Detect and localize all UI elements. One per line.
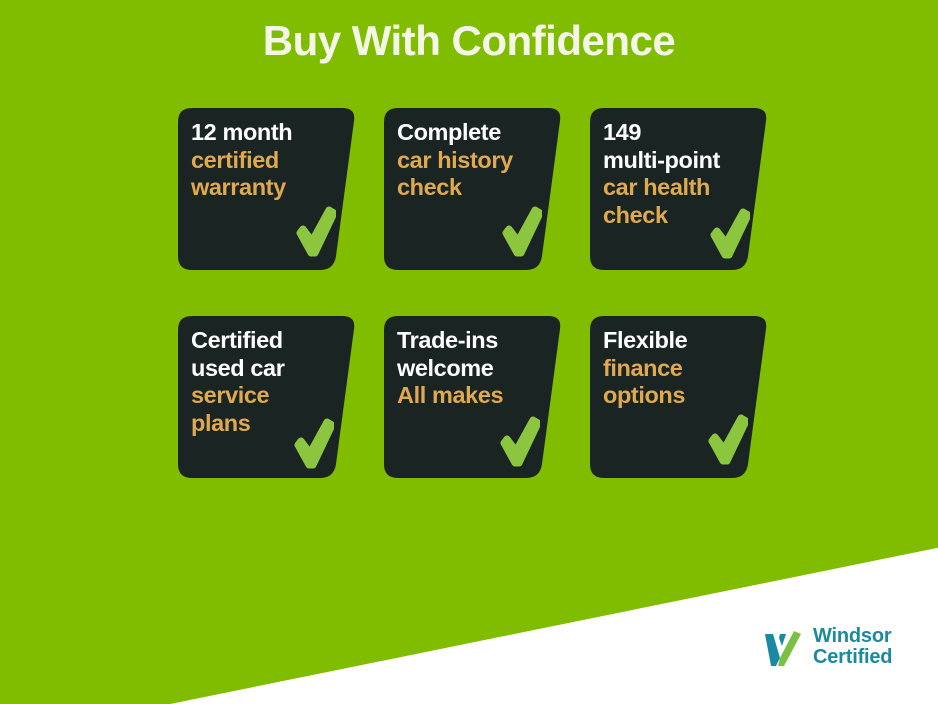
card-line-white: Trade-ins: [397, 327, 549, 355]
green-check-icon: [294, 418, 334, 470]
card-text: Trade-ins welcome All makes: [397, 327, 549, 410]
benefit-card-grid: 12 month certified warranty Complete car…: [178, 108, 768, 478]
card-line-accent: options: [603, 382, 755, 410]
card-line-accent: check: [397, 174, 549, 202]
poster-canvas: Buy With Confidence 12 month certified w…: [0, 0, 938, 704]
card-line-accent: service: [191, 382, 343, 410]
windsor-w-checkmark-icon: [760, 624, 806, 670]
card-line-accent: warranty: [191, 174, 343, 202]
logo-wordmark: Windsor Certified: [813, 626, 892, 668]
green-check-icon: [500, 416, 540, 468]
logo-line-1: Windsor: [813, 626, 892, 647]
card-line-white: Certified: [191, 327, 343, 355]
card-line-accent: certified: [191, 147, 343, 175]
benefit-card[interactable]: 149 multi-point car health check: [590, 108, 768, 270]
green-check-icon: [502, 206, 542, 258]
card-line-white: used car: [191, 355, 343, 383]
card-line-white: 12 month: [191, 119, 343, 147]
card-line-accent: car health: [603, 174, 755, 202]
page-title: Buy With Confidence: [0, 18, 938, 64]
benefit-card[interactable]: Complete car history check: [384, 108, 562, 270]
card-line-white: welcome: [397, 355, 549, 383]
card-line-white: multi-point: [603, 147, 755, 175]
green-check-icon: [296, 206, 336, 258]
card-line-accent: All makes: [397, 382, 549, 410]
benefit-card[interactable]: Certified used car service plans: [178, 316, 356, 478]
benefit-card[interactable]: 12 month certified warranty: [178, 108, 356, 270]
card-line-white: 149: [603, 119, 755, 147]
card-line-accent: car history: [397, 147, 549, 175]
benefit-card[interactable]: Trade-ins welcome All makes: [384, 316, 562, 478]
logo-line-2: Certified: [813, 647, 892, 668]
card-line-white: Flexible: [603, 327, 755, 355]
card-line-accent: finance: [603, 355, 755, 383]
green-check-icon: [710, 208, 750, 260]
brand-logo[interactable]: Windsor Certified: [760, 624, 892, 670]
card-line-white: Complete: [397, 119, 549, 147]
card-text: Flexible finance options: [603, 327, 755, 410]
card-text: Complete car history check: [397, 119, 549, 202]
card-text: 12 month certified warranty: [191, 119, 343, 202]
benefit-card[interactable]: Flexible finance options: [590, 316, 768, 478]
green-check-icon: [708, 414, 748, 466]
